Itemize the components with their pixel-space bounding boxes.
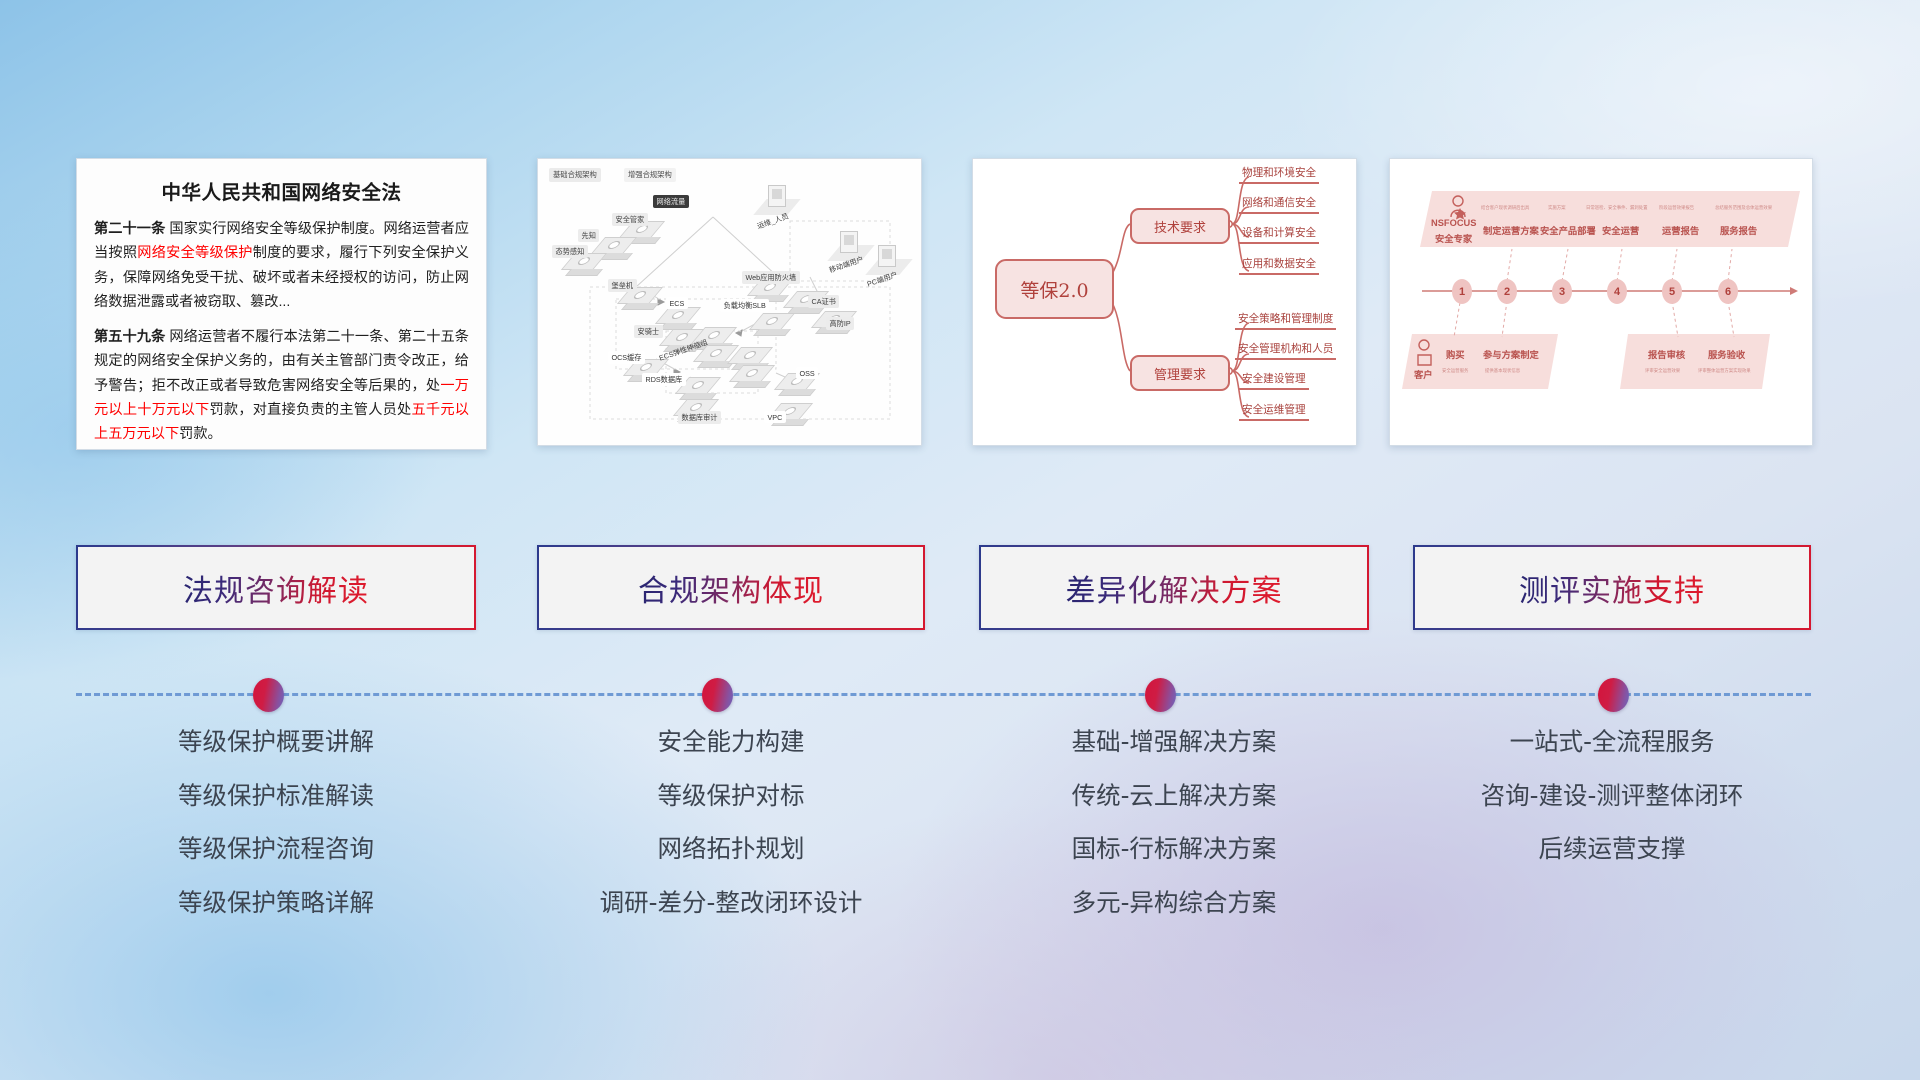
- mindmap-leaf-tech-2: 网络和通信安全: [1239, 195, 1319, 214]
- arch-label-situational-awareness: 态势感知: [552, 245, 588, 258]
- roadmap-actor-top-line2: 安全专家: [1435, 231, 1472, 245]
- headline-box-assessment-support[interactable]: 测评实施支持: [1413, 545, 1811, 630]
- detail-list-column-3: 基础-增强解决方案 传统-云上解决方案 国标-行标解决方案 多元-异构综合方案: [979, 730, 1369, 944]
- arch-label-vpc: VPC: [764, 411, 786, 423]
- roadmap-bottom-title-2: 参与方案制定: [1483, 347, 1539, 361]
- arch-label-waf: Web应用防火墙: [742, 271, 800, 284]
- roadmap-bottom-title-1: 购买: [1446, 347, 1465, 361]
- arch-label-anti-ddos-ip: 高防IP: [826, 317, 854, 330]
- arch-node-scale-d: [736, 365, 768, 388]
- arch-node-slb: [756, 313, 788, 336]
- mindmap-leaf-mgmt-4: 安全运维管理: [1239, 402, 1309, 421]
- roadmap-top-sub-1: 结合客户现状调研后出具: [1481, 205, 1529, 211]
- mindmap-card: 等保2.0 技术要求 管理要求 物理和环境安全 网络和通信安全 设备和计算安全 …: [972, 158, 1357, 446]
- roadmap-diagram: NSFOCUS 安全专家 客户 结合客户现状调研后出具 制定运营方案 实施方案 …: [1390, 159, 1812, 445]
- roadmap-top-title-3: 安全运营: [1602, 223, 1639, 237]
- arch-label-rds: RDS数据库: [642, 373, 686, 386]
- roadmap-top-title-5: 服务报告: [1720, 223, 1757, 237]
- arch-icon-mobile-user: [840, 231, 858, 253]
- arch-label-traffic: 网络流量: [653, 195, 689, 208]
- list-item: 等级保护概要讲解: [76, 730, 476, 755]
- law-article-21: 第二十一条 国家实行网络安全等级保护制度。网络运营者应当按照网络安全等级保护制度…: [94, 217, 469, 315]
- headline-label-2: 差异化解决方案: [1066, 566, 1283, 610]
- roadmap-bottom-sub-4: 评审整体运营方案实现效果: [1698, 368, 1751, 374]
- mindmap-leaf-tech-4: 应用和数据安全: [1239, 256, 1319, 275]
- timeline-dot-4[interactable]: [1598, 678, 1629, 712]
- detail-list-column-4: 一站式-全流程服务 咨询-建设-测评整体闭环 后续运营支撑: [1413, 730, 1811, 891]
- list-item: 等级保护策略详解: [76, 891, 476, 916]
- mindmap-leaf-tech-1: 物理和环境安全: [1239, 165, 1319, 184]
- mindmap-leaf-tech-3: 设备和计算安全: [1239, 225, 1319, 244]
- mindmap-root: 等保2.0: [995, 259, 1114, 319]
- list-item: 基础-增强解决方案: [979, 730, 1369, 755]
- mindmap-diagram: 等保2.0 技术要求 管理要求 物理和环境安全 网络和通信安全 设备和计算安全 …: [973, 159, 1356, 445]
- list-item: 等级保护流程咨询: [76, 837, 476, 862]
- list-item: 一站式-全流程服务: [1413, 730, 1811, 755]
- mindmap-leaf-mgmt-1: 安全策略和管理制度: [1235, 311, 1336, 330]
- arch-label-ca-cert: CA证书: [808, 295, 839, 308]
- list-item: 多元-异构综合方案: [979, 891, 1369, 916]
- detail-list-column-2: 安全能力构建 等级保护对标 网络拓扑规划 调研-差分-整改闭环设计: [537, 730, 925, 944]
- roadmap-bottom-title-3: 报告审核: [1648, 347, 1685, 361]
- law-card: 中华人民共和国网络安全法 第二十一条 国家实行网络安全等级保护制度。网络运营者应…: [76, 158, 487, 450]
- roadmap-actor-top-line1: NSFOCUS: [1431, 218, 1476, 228]
- roadmap-step-2: 2: [1497, 279, 1517, 304]
- list-item: 国标-行标解决方案: [979, 837, 1369, 862]
- headline-label-3: 测评实施支持: [1519, 566, 1705, 610]
- headline-box-compliance-architecture[interactable]: 合规架构体现: [537, 545, 925, 630]
- arch-icon-ops-monitor: [768, 185, 786, 207]
- headline-label-0: 法规咨询解读: [183, 566, 369, 610]
- arch-label-bastion: 堡垒机: [608, 279, 637, 292]
- law-article-21-label: 第二十一条: [94, 221, 165, 237]
- mindmap-branch-technical: 技术要求: [1130, 208, 1230, 244]
- detail-list-row: 等级保护概要讲解 等级保护标准解读 等级保护流程咨询 等级保护策略详解 安全能力…: [0, 730, 1920, 1080]
- roadmap-top-sub-5: 总结服务范围及总体运营效果: [1715, 205, 1772, 211]
- arch-label-ocs-cache: OCS缓存: [608, 351, 645, 364]
- mindmap-branch-management: 管理要求: [1130, 355, 1230, 391]
- roadmap-step-3: 3: [1552, 279, 1572, 304]
- roadmap-bottom-sub-2: 提供基本现状信息: [1485, 368, 1520, 374]
- roadmap-actor-bottom: 客户: [1414, 367, 1433, 381]
- architecture-diagram: 基础合规架构 增强合规架构: [538, 159, 921, 445]
- arch-label-security-butler: 安全管家: [612, 213, 648, 226]
- slide-stage: 中华人民共和国网络安全法 第二十一条 国家实行网络安全等级保护制度。网络运营者应…: [0, 0, 1920, 1080]
- timeline-dot-3[interactable]: [1145, 678, 1176, 712]
- roadmap-top-sub-2: 实施方案: [1548, 205, 1566, 211]
- list-item: 咨询-建设-测评整体闭环: [1413, 784, 1811, 809]
- roadmap-top-title-1: 制定运营方案: [1483, 223, 1539, 237]
- roadmap-step-1: 1: [1452, 279, 1472, 304]
- list-item: 等级保护对标: [537, 784, 925, 809]
- roadmap-top-title-2: 安全产品部署: [1540, 223, 1596, 237]
- list-item: 后续运营支撑: [1413, 837, 1811, 862]
- list-item: 安全能力构建: [537, 730, 925, 755]
- arch-label-slb: 负载均衡SLB: [720, 299, 769, 312]
- mindmap-leaf-mgmt-2: 安全管理机构和人员: [1235, 341, 1336, 360]
- law-card-title: 中华人民共和国网络安全法: [94, 176, 469, 205]
- roadmap-top-sub-3: 日常巡检、安全事件、漏洞处置: [1586, 205, 1647, 211]
- roadmap-step-5: 5: [1662, 279, 1682, 304]
- illustration-card-row: 中华人民共和国网络安全法 第二十一条 国家实行网络安全等级保护制度。网络运营者应…: [0, 150, 1920, 450]
- roadmap-bottom-sub-1: 安全运营服务: [1442, 368, 1468, 374]
- list-item: 等级保护标准解读: [76, 784, 476, 809]
- mindmap-leaf-mgmt-3: 安全建设管理: [1239, 371, 1309, 390]
- roadmap-top-sub-4: 阶段运营效果报告: [1659, 205, 1694, 211]
- roadmap-bottom-title-4: 服务验收: [1708, 347, 1745, 361]
- list-item: 调研-差分-整改闭环设计: [537, 891, 925, 916]
- timeline-dot-1[interactable]: [253, 678, 284, 712]
- headline-box-regulation-consulting[interactable]: 法规咨询解读: [76, 545, 476, 630]
- arch-label-anqishi: 安骑士: [634, 325, 663, 338]
- arch-node-ecs: [662, 307, 694, 330]
- law-article-59-label: 第五十九条: [94, 329, 165, 345]
- detail-list-column-1: 等级保护概要讲解 等级保护标准解读 等级保护流程咨询 等级保护策略详解: [76, 730, 476, 944]
- timeline-dot-2[interactable]: [702, 678, 733, 712]
- roadmap-step-4: 4: [1607, 279, 1627, 304]
- roadmap-card: NSFOCUS 安全专家 客户 结合客户现状调研后出具 制定运营方案 实施方案 …: [1389, 158, 1813, 446]
- roadmap-bottom-sub-3: 评审安全运营效果: [1645, 368, 1680, 374]
- headline-row: 法规咨询解读 合规架构体现 差异化解决方案 测评实施支持: [0, 545, 1920, 650]
- headline-label-1: 合规架构体现: [638, 566, 824, 610]
- arch-label-ecs: ECS: [666, 297, 688, 309]
- timeline-dashed-line: [76, 693, 1811, 696]
- law-article-59-after: 罚款。: [179, 426, 222, 442]
- arch-node-rds: [682, 377, 714, 400]
- roadmap-step-6: 6: [1718, 279, 1738, 304]
- arch-label-oss: OSS: [796, 367, 818, 379]
- arch-label-db-audit: 数据库审计: [678, 411, 721, 424]
- headline-box-differentiated-solution[interactable]: 差异化解决方案: [979, 545, 1369, 630]
- architecture-card: 基础合规架构 增强合规架构: [537, 158, 922, 446]
- roadmap-shapes: [1390, 159, 1812, 445]
- law-article-21-highlight: 网络安全等级保护: [137, 245, 252, 261]
- law-article-59-mid: 罚款，对直接负责的主管人员处: [209, 402, 411, 418]
- law-article-59: 第五十九条 网络运营者不履行本法第二十一条、第二十五条规定的网络安全保护义务的，…: [94, 325, 469, 447]
- roadmap-top-title-4: 运营报告: [1662, 223, 1699, 237]
- list-item: 传统-云上解决方案: [979, 784, 1369, 809]
- arch-icon-pc-user: [878, 245, 896, 267]
- list-item: 网络拓扑规划: [537, 837, 925, 862]
- arch-label-xianzhi: 先知: [578, 229, 599, 242]
